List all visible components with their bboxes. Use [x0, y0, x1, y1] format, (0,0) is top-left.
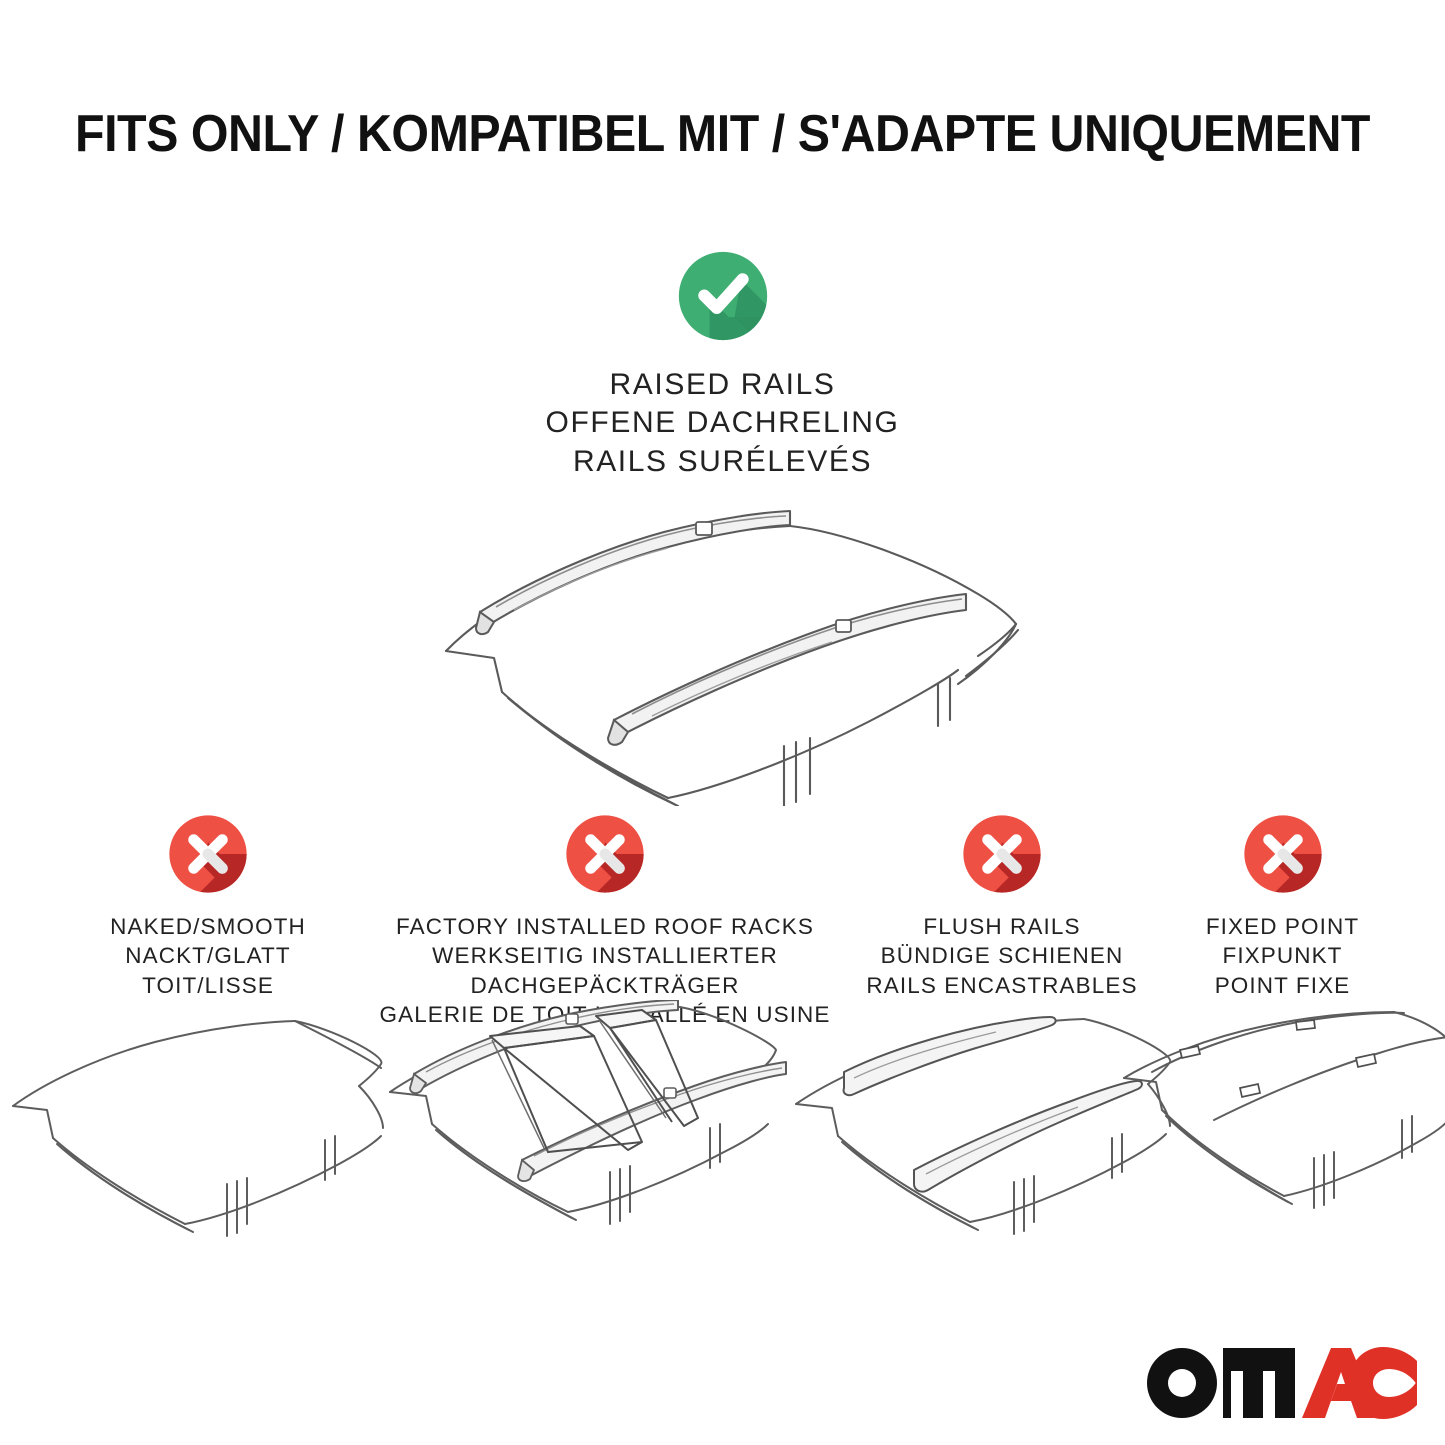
label-de: FIXPUNKT — [1150, 941, 1415, 970]
incompatible-item-factory-racks: FACTORY INSTALLED ROOF RACKS WERKSEITIG … — [360, 812, 850, 1029]
incompatible-labels-fixed-point: FIXED POINT FIXPUNKT POINT FIXE — [1150, 912, 1415, 1000]
incompatible-item-naked-smooth: NAKED/SMOOTH NACKT/GLATT TOIT/LISSE — [0, 812, 416, 1000]
label-fr: RAILS ENCASTRABLES — [828, 971, 1176, 1000]
incompatible-labels-flush-rails: FLUSH RAILS BÜNDIGE SCHIENEN RAILS ENCAS… — [828, 912, 1176, 1000]
compatible-section: RAISED RAILS OFFENE DACHRELING RAILS SUR… — [0, 248, 1445, 481]
x-circle-icon — [563, 812, 647, 896]
label-de-2: DACHGEPÄCKTRÄGER — [360, 971, 850, 1000]
incompatible-item-fixed-point: FIXED POINT FIXPUNKT POINT FIXE — [1150, 812, 1415, 1000]
compatible-label-de: OFFENE DACHRELING — [0, 404, 1445, 442]
x-circle-icon — [166, 812, 250, 896]
label-fr: POINT FIXE — [1150, 971, 1415, 1000]
car-roof-naked-illustration — [0, 1008, 395, 1258]
logo-letter-m — [1223, 1348, 1295, 1418]
incompatible-section: NAKED/SMOOTH NACKT/GLATT TOIT/LISSE — [0, 812, 1445, 1282]
incompatible-item-flush-rails: FLUSH RAILS BÜNDIGE SCHIENEN RAILS ENCAS… — [828, 812, 1176, 1000]
label-en: NAKED/SMOOTH — [0, 912, 416, 941]
car-roof-fixed-point-illustration — [1118, 1008, 1445, 1258]
x-circle-icon — [960, 812, 1044, 896]
car-roof-factory-racks-illustration — [380, 1000, 800, 1260]
label-en: FLUSH RAILS — [828, 912, 1176, 941]
page-title: FITS ONLY / KOMPATIBEL MIT / S'ADAPTE UN… — [51, 104, 1395, 164]
compatible-label-fr: RAILS SURÉLEVÉS — [0, 443, 1445, 481]
label-fr: TOIT/LISSE — [0, 971, 416, 1000]
label-de: NACKT/GLATT — [0, 941, 416, 970]
x-circle-icon — [1241, 812, 1325, 896]
label-de-1: WERKSEITIG INSTALLIERTER — [360, 941, 850, 970]
compatible-label-en: RAISED RAILS — [0, 366, 1445, 404]
logo-letter-c — [1349, 1347, 1417, 1419]
label-en: FACTORY INSTALLED ROOF RACKS — [360, 912, 850, 941]
label-de: BÜNDIGE SCHIENEN — [828, 941, 1176, 970]
fitment-infographic: FITS ONLY / KOMPATIBEL MIT / S'ADAPTE UN… — [0, 0, 1445, 1445]
incompatible-labels-naked-smooth: NAKED/SMOOTH NACKT/GLATT TOIT/LISSE — [0, 912, 416, 1000]
compatible-labels: RAISED RAILS OFFENE DACHRELING RAILS SUR… — [0, 366, 1445, 481]
logo-letter-o — [1147, 1348, 1217, 1418]
label-en: FIXED POINT — [1150, 912, 1415, 941]
check-circle-icon — [675, 248, 771, 344]
car-roof-raised-rails-illustration — [418, 506, 1028, 806]
omac-logo — [1145, 1339, 1417, 1425]
